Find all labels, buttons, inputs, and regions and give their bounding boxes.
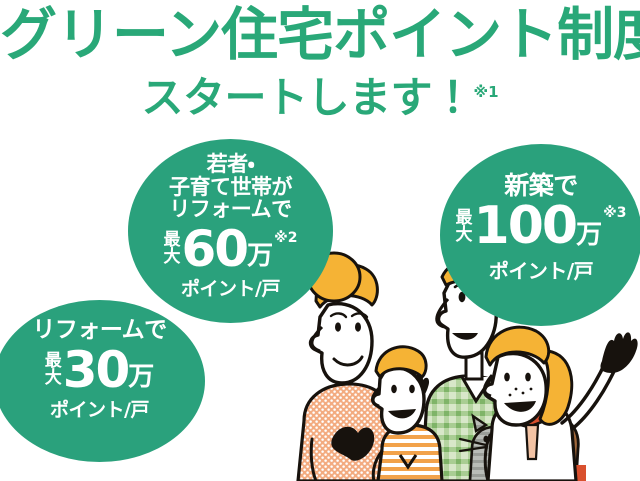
max-label: 最 大	[45, 353, 62, 387]
point-unit: ポイント/戸	[440, 255, 640, 284]
bubble-content: 若者・ 子育て世帯が リフォームで 最 大 60 万 ※2 ポイント/戸	[128, 153, 333, 301]
bubble-content: リフォームで 最 大 30 万 ポイント/戸	[0, 318, 205, 422]
point-unit: ポイント/戸	[0, 395, 205, 422]
title-footnote-marker: ※1	[473, 83, 498, 101]
point-amount: 60	[182, 226, 248, 272]
man-unit: 万	[128, 364, 154, 390]
bubble-line: リフォームで	[0, 318, 205, 343]
young-family-reform-bubble[interactable]: 若者・ 子育て世帯が リフォームで 最 大 60 万 ※2 ポイント/戸	[128, 139, 333, 323]
bubble-content: 新築で 最 大 100 万 ※3 ポイント/戸	[440, 172, 640, 284]
bubble-line: 新築で	[440, 172, 640, 199]
bubble-footnote-marker: ※2	[274, 230, 297, 246]
title-line-2: スタートします！※1	[0, 68, 640, 122]
new-build-bubble[interactable]: 新築で 最 大 100 万 ※3 ポイント/戸	[440, 144, 640, 326]
point-amount: 100	[474, 203, 577, 251]
point-amount: 30	[63, 347, 129, 393]
max-label-bottom: 大	[164, 249, 181, 266]
amount-row: 最 大 30 万	[0, 347, 205, 393]
max-label: 最 大	[456, 210, 473, 244]
max-label-bottom: 大	[45, 370, 62, 387]
amount-row: 最 大 100 万 ※3	[440, 203, 640, 251]
bubble-footnote-marker: ※3	[603, 205, 626, 221]
bubble-line: 子育て世帯が	[128, 176, 333, 199]
amount-row: 最 大 60 万 ※2	[128, 226, 333, 272]
poster-root: グリーン住宅ポイント制度 スタートします！※1	[0, 0, 640, 481]
daughter-figure	[484, 327, 637, 481]
point-unit: ポイント/戸	[128, 274, 333, 301]
bubble-line: 若者・	[128, 153, 333, 176]
title-line-2-text: スタートします！	[141, 73, 473, 122]
man-unit: 万	[247, 243, 273, 269]
bubble-line: リフォームで	[128, 198, 333, 221]
max-label: 最 大	[164, 232, 181, 266]
title-line-1: グリーン住宅ポイント制度	[0, 3, 640, 67]
max-label-bottom: 大	[456, 227, 473, 244]
reform-bubble[interactable]: リフォームで 最 大 30 万 ポイント/戸	[0, 300, 205, 462]
man-unit: 万	[576, 222, 602, 248]
